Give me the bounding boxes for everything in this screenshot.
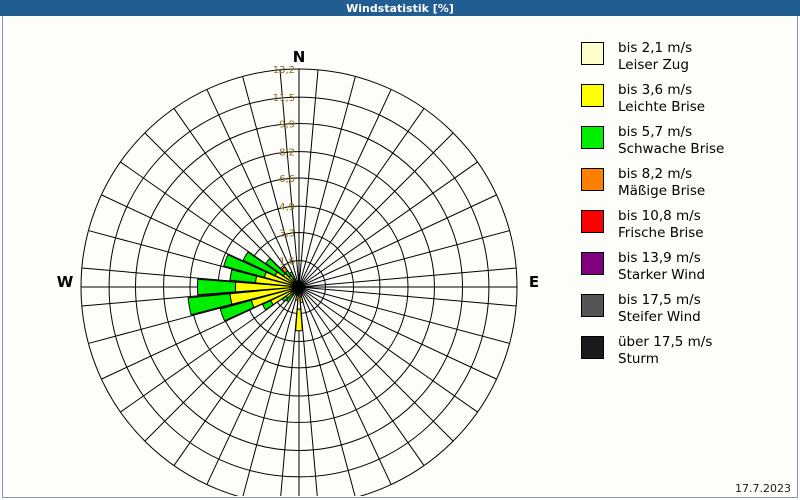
legend-label-speed: bis 8,2 m/s [618, 166, 705, 183]
grid-spoke [299, 162, 478, 287]
radial-tick-label: 13,2 [273, 65, 295, 76]
legend-label-name: Starker Wind [618, 267, 705, 284]
window-client-area: 1,63,34,96,68,29,911,513,2 N E S W bis 2… [2, 16, 798, 498]
legend-color-swatch [581, 210, 604, 233]
legend-color-swatch [581, 336, 604, 359]
grid-spoke [299, 287, 355, 496]
grid-spoke [299, 287, 510, 343]
compass-label-north: N [293, 48, 306, 66]
legend-label-speed: bis 13,9 m/s [618, 250, 705, 267]
legend-item[interactable]: über 17,5 m/sSturm [581, 334, 791, 368]
windrose-petal-segment [197, 279, 235, 295]
legend-label: bis 2,1 m/sLeiser Zug [618, 40, 692, 74]
radial-tick-label: 11,5 [273, 93, 295, 104]
legend-item[interactable]: bis 17,5 m/sSteifer Wind [581, 292, 791, 326]
legend-label-name: Schwache Brise [618, 141, 724, 158]
legend-label-speed: bis 10,8 m/s [618, 208, 704, 225]
legend-label-name: Leichte Brise [618, 99, 705, 116]
legend-label: bis 5,7 m/sSchwache Brise [618, 124, 724, 158]
legend-item[interactable]: bis 13,9 m/sStarker Wind [581, 250, 791, 284]
legend-label: bis 10,8 m/sFrische Brise [618, 208, 704, 242]
legend-label: bis 8,2 m/sMäßige Brise [618, 166, 705, 200]
legend-label-name: Frische Brise [618, 225, 704, 242]
polar-grid [81, 69, 517, 496]
compass-label-east: E [529, 273, 539, 291]
legend-item[interactable]: bis 5,7 m/sSchwache Brise [581, 124, 791, 158]
legend-label: bis 17,5 m/sSteifer Wind [618, 292, 701, 326]
legend-color-swatch [581, 168, 604, 191]
grid-spoke [299, 287, 424, 466]
legend-label-speed: bis 5,7 m/s [618, 124, 724, 141]
legend-label: bis 3,6 m/sLeichte Brise [618, 82, 705, 116]
grid-spoke [299, 108, 424, 287]
legend-label-name: Steifer Wind [618, 309, 701, 326]
compass-label-west: W [57, 273, 74, 291]
legend-label-name: Mäßige Brise [618, 183, 705, 200]
windrose-petal-segment [298, 284, 299, 285]
legend-color-swatch [581, 126, 604, 149]
legend-item[interactable]: bis 3,6 m/sLeichte Brise [581, 82, 791, 116]
windrose-petal-segment [296, 295, 298, 300]
legend-label: bis 13,9 m/sStarker Wind [618, 250, 705, 284]
radial-tick-label: 8,2 [279, 148, 295, 159]
legend-color-swatch [581, 294, 604, 317]
legend: bis 2,1 m/sLeiser Zugbis 3,6 m/sLeichte … [581, 40, 791, 376]
date-stamp: 17.7.2023 [735, 482, 791, 495]
radial-tick-label: 9,9 [279, 120, 295, 131]
windrose-chart: 1,63,34,96,68,29,911,513,2 N E S W [3, 16, 573, 496]
legend-color-swatch [581, 42, 604, 65]
grid-spoke [243, 287, 299, 496]
legend-label-speed: bis 17,5 m/s [618, 292, 701, 309]
chart-window: Windstatistik [%] 1,63,34,96,68,29,911,5… [0, 0, 800, 500]
radial-tick-label: 1,6 [279, 257, 295, 268]
legend-item[interactable]: bis 2,1 m/sLeiser Zug [581, 40, 791, 74]
legend-color-swatch [581, 252, 604, 275]
legend-color-swatch [581, 84, 604, 107]
windrose-svg: 1,63,34,96,68,29,911,513,2 N E S W [3, 16, 573, 496]
grid-spoke [299, 76, 355, 287]
legend-label-speed: bis 2,1 m/s [618, 40, 692, 57]
legend-label-name: Leiser Zug [618, 57, 692, 74]
grid-spoke [299, 231, 510, 287]
windrose-petal-segment [296, 309, 303, 331]
legend-item[interactable]: bis 10,8 m/sFrische Brise [581, 208, 791, 242]
radial-tick-label: 4,9 [279, 202, 295, 213]
grid-spoke [299, 287, 478, 412]
radial-tick-label: 6,6 [279, 174, 295, 185]
legend-label-speed: bis 3,6 m/s [618, 82, 705, 99]
legend-item[interactable]: bis 8,2 m/sMäßige Brise [581, 166, 791, 200]
legend-label-speed: über 17,5 m/s [618, 334, 712, 351]
legend-label: über 17,5 m/sSturm [618, 334, 712, 368]
window-titlebar: Windstatistik [%] [0, 0, 800, 16]
legend-label-name: Sturm [618, 351, 712, 368]
radial-tick-label: 3,3 [279, 229, 295, 240]
window-title: Windstatistik [%] [346, 2, 454, 15]
